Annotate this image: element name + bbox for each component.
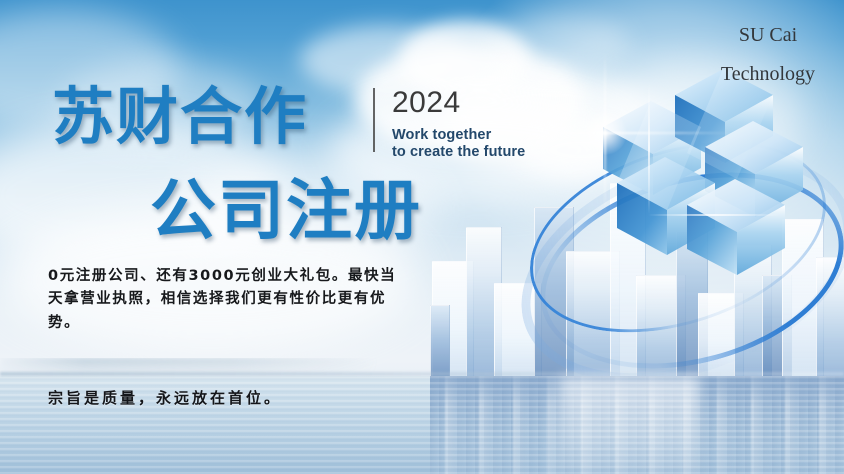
slogan-line-1: Work together	[392, 127, 491, 143]
horizon-line	[0, 372, 844, 376]
footer-tagline: 宗旨是质量，永远放在首位。	[48, 387, 282, 408]
headline-line-1: 苏财合作	[52, 86, 308, 148]
brand-line-2: Technology	[700, 55, 836, 94]
body-copy: 0元注册公司、还有3000元创业大礼包。最快当天拿营业执照，相信选择我们更有性价…	[48, 265, 400, 335]
slogan-line-2: to create the future	[392, 144, 525, 160]
promo-banner: SU Cai Technology 苏财合作 公司注册 2024 Work to…	[0, 0, 844, 474]
brand-line-1: SU Cai	[700, 16, 836, 55]
vertical-divider	[373, 88, 375, 152]
headline-line-2: 公司注册	[150, 178, 422, 244]
year-label: 2024	[392, 86, 461, 120]
brand-name: SU Cai Technology	[700, 16, 836, 94]
